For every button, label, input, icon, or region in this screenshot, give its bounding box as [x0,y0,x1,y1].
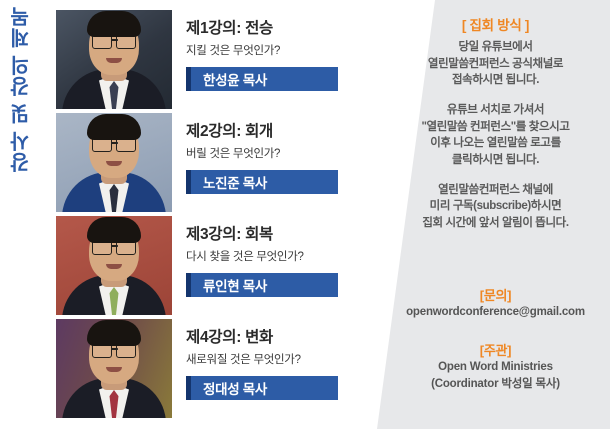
speaker-row: 제3강의: 회복 다시 찾을 것은 무엇인가? 류인현 목사 [56,216,396,317]
speaker-name: 노진준 목사 [191,172,267,192]
info-panel-heading: [ 집회 방식 ] [395,14,596,34]
speaker-info: 제2강의: 회개 버릴 것은 무엇인가? 노진준 목사 [186,113,396,194]
speaker-info: 제4강의: 변화 새로워질 것은 무엇인가? 정대성 목사 [186,319,396,400]
speaker-name-badge: 노진준 목사 [186,170,338,194]
photo-hair [87,217,141,243]
speaker-name: 정대성 목사 [191,378,267,398]
lecture-title: 제1강의: 전승 [186,20,396,39]
speaker-name: 류인현 목사 [191,275,267,295]
speaker-name-badge: 한성윤 목사 [186,67,338,91]
lecture-subtitle: 버릴 것은 무엇인가? [186,145,396,161]
speaker-info: 제3강의: 회복 다시 찾을 것은 무엇인가? 류인현 목사 [186,216,396,297]
speaker-row: 제4강의: 변화 새로워질 것은 무엇인가? 정대성 목사 [56,319,396,420]
speaker-photo-2 [56,113,172,212]
lecture-title: 제2강의: 회개 [186,123,396,142]
lecture-subtitle: 새로워질 것은 무엇인가? [186,351,396,367]
photo-mouth [106,264,122,269]
lecture-subtitle: 지킬 것은 무엇인가? [186,42,396,58]
speaker-info: 제1강의: 전승 지킬 것은 무엇인가? 한성윤 목사 [186,10,396,91]
speaker-photo-1 [56,10,172,109]
spacer [395,318,596,340]
host-name: Open Word Ministries [395,361,596,373]
speaker-list: 제1강의: 전승 지킬 것은 무엇인가? 한성윤 목사 제2강의: 회개 [0,0,400,429]
conference-poster: 강사 및 강의 제목 제1강의: 전승 지킬 것은 무엇인가? 한성윤 목사 [0,0,610,429]
speaker-row: 제1강의: 전승 지킬 것은 무엇인가? 한성윤 목사 [56,10,396,111]
host-coordinator: (Coordinator 박성일 목사) [395,375,596,391]
info-paragraph-3: 열린말씀컨퍼런스 채널에 미리 구독(subscribe)하시면 집회 시간에 … [395,182,596,232]
speaker-name-badge: 류인현 목사 [186,273,338,297]
lecture-title: 제3강의: 회복 [186,226,396,245]
photo-hair [87,11,141,37]
info-paragraph-1: 당일 유튜브에서 열린말씀컨퍼런스 공식채널로 접속하시면 됩니다. [395,39,596,89]
inquiry-label: [문의] [395,285,596,304]
info-paragraph-2: 유튜브 서치로 가셔서 "열린말씀 컨퍼런스"를 찾으시고 이후 나오는 열린말… [395,102,596,169]
speaker-photo-4 [56,319,172,418]
photo-hair [87,114,141,140]
photo-mouth [106,161,122,166]
lecture-subtitle: 다시 찾을 것은 무엇인가? [186,248,396,264]
info-panel: [ 집회 방식 ] 당일 유튜브에서 열린말씀컨퍼런스 공식채널로 접속하시면 … [395,0,610,429]
photo-mouth [106,367,122,372]
speaker-name-badge: 정대성 목사 [186,376,338,400]
speaker-name: 한성윤 목사 [191,69,267,89]
photo-hair [87,320,141,346]
inquiry-email[interactable]: openwordconference@gmail.com [395,306,596,318]
host-label: [주관] [395,340,596,359]
speaker-row: 제2강의: 회개 버릴 것은 무엇인가? 노진준 목사 [56,113,396,214]
lecture-title: 제4강의: 변화 [186,329,396,348]
spacer [395,245,596,285]
photo-mouth [106,58,122,63]
speaker-photo-3 [56,216,172,315]
